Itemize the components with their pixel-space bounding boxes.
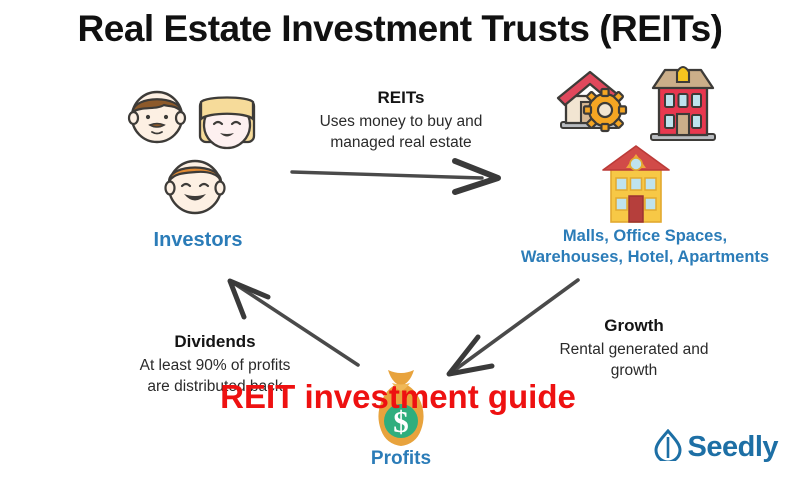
- properties-label-line-2: Warehouses, Hotel, Apartments: [490, 247, 800, 268]
- properties-node: [545, 58, 775, 223]
- house-with-gear-icon: [553, 60, 631, 138]
- infographic-canvas: Real Estate Investment Trusts (REITs): [0, 0, 800, 480]
- investor-avatar-man-icon: [126, 84, 188, 146]
- arrow-right-icon: [292, 161, 498, 192]
- reits-flow-text: REITs Uses money to buy and managed real…: [286, 88, 516, 154]
- reits-line-2: managed real estate: [286, 133, 516, 154]
- investors-label: Investors: [118, 228, 278, 253]
- page-title: Real Estate Investment Trusts (REITs): [0, 8, 800, 50]
- dividends-line-1: At least 90% of profits: [106, 356, 324, 377]
- investor-avatar-young-icon: [162, 152, 228, 218]
- brand-name: Seedly: [688, 431, 779, 464]
- growth-line-1: Rental generated and: [525, 340, 743, 361]
- investor-avatar-woman-icon: [196, 92, 258, 154]
- brand-logo[interactable]: Seedly: [653, 429, 779, 466]
- yellow-house-icon: [593, 142, 679, 226]
- properties-label-line-1: Malls, Office Spaces,: [490, 226, 800, 247]
- overlay-caption: REIT investment guide: [0, 378, 798, 416]
- growth-flow-text: Growth Rental generated and growth: [525, 316, 743, 382]
- seedly-droplet-logo-icon: [653, 429, 683, 466]
- growth-heading: Growth: [525, 316, 743, 336]
- reits-heading: REITs: [286, 88, 516, 108]
- dividends-heading: Dividends: [106, 332, 324, 352]
- red-apartment-building-icon: [645, 58, 721, 144]
- properties-label: Malls, Office Spaces, Warehouses, Hotel,…: [490, 226, 800, 267]
- reits-line-1: Uses money to buy and: [286, 112, 516, 133]
